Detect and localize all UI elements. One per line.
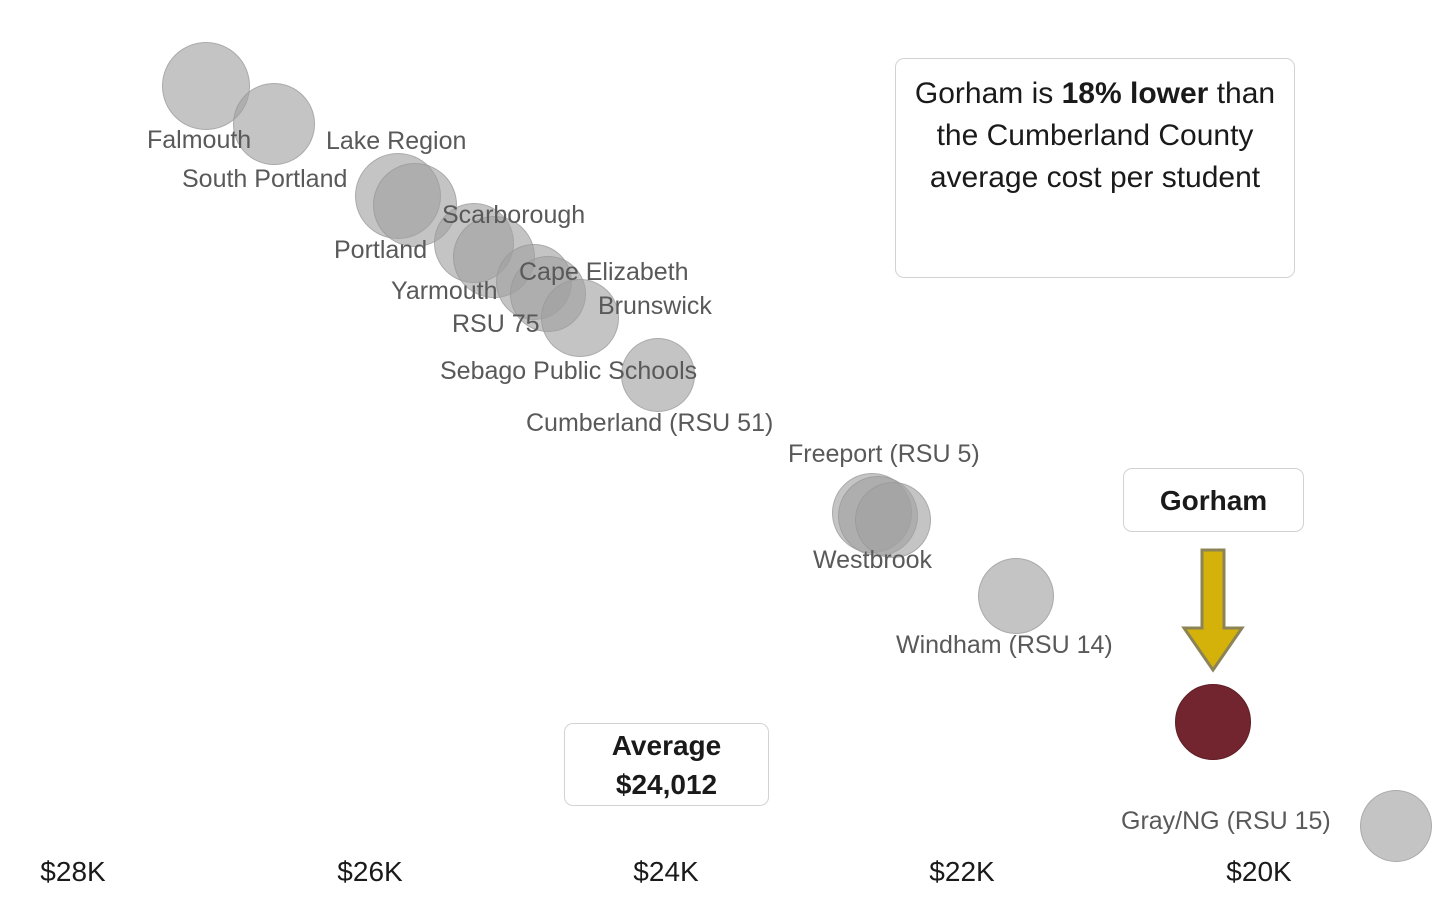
chart-canvas: FalmouthSouth PortlandLake RegionPortlan… bbox=[0, 0, 1432, 906]
axis-tick-28k: $28K bbox=[40, 858, 105, 886]
x-axis: $28K$26K$24K$22K$20K bbox=[0, 0, 1432, 906]
axis-tick-22k: $22K bbox=[929, 858, 994, 886]
axis-tick-20k: $20K bbox=[1226, 858, 1291, 886]
axis-tick-24k: $24K bbox=[633, 858, 698, 886]
axis-tick-26k: $26K bbox=[337, 858, 402, 886]
